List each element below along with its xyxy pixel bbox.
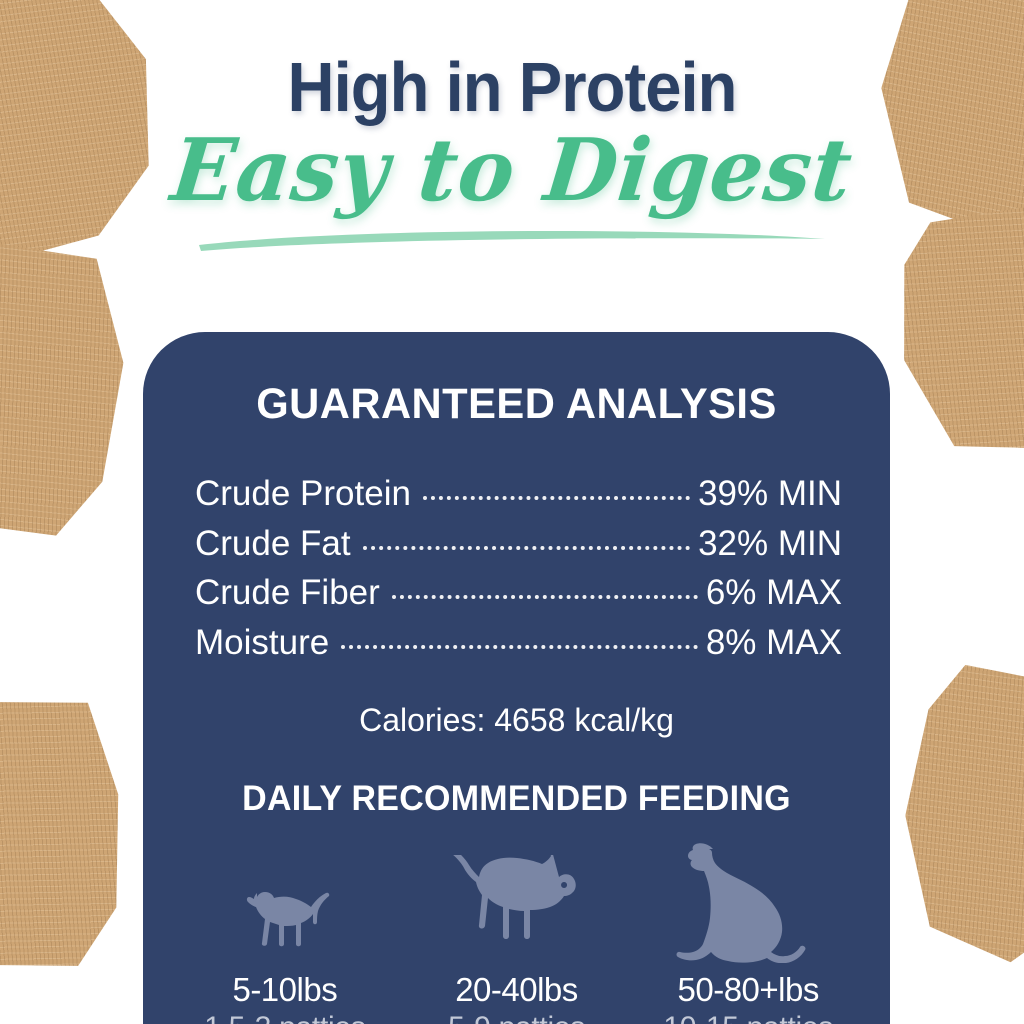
- calories-line: Calories: 4658 kcal/kg: [143, 702, 890, 739]
- analysis-label: Crude Fiber: [195, 568, 380, 618]
- analysis-value: 32% MIN: [698, 519, 842, 569]
- feeding-portion: 10-15 patties: [632, 1011, 864, 1024]
- analysis-row: Moisture 8% MAX: [195, 618, 842, 668]
- feeding-portion: 1.5-3 patties: [169, 1011, 401, 1024]
- small-dog-icon: [231, 875, 339, 963]
- headline-primary: High in Protein: [36, 0, 988, 122]
- large-dog-icon: [673, 835, 823, 963]
- headline-script: Easy to Digest: [11, 128, 1013, 214]
- analysis-row: Crude Fiber 6% MAX: [195, 568, 842, 618]
- guaranteed-analysis-panel: GUARANTEED ANALYSIS Crude Protein 39% MI…: [143, 332, 890, 1024]
- analysis-heading: GUARANTEED ANALYSIS: [154, 332, 879, 429]
- analysis-label: Crude Fat: [195, 519, 351, 569]
- feeding-portion: 5-9 patties: [401, 1011, 633, 1024]
- analysis-leader-dots: [341, 645, 698, 649]
- feeding-weight: 5-10lbs: [169, 971, 401, 1009]
- feeding-guide: 5-10lbs 1.5-3 patties 20-40lbs 5-9 patti…: [143, 835, 890, 1024]
- analysis-leader-dots: [392, 595, 698, 599]
- analysis-row: Crude Fat 32% MIN: [195, 519, 842, 569]
- medium-dog-icon: [451, 855, 583, 963]
- product-infographic: High in Protein Easy to Digest GUARANTEE…: [0, 0, 1024, 1024]
- patty-image-bottom-right: [891, 654, 1024, 973]
- analysis-value: 39% MIN: [698, 469, 842, 519]
- headline-script-wrap: Easy to Digest: [0, 128, 1024, 246]
- feeding-column-large: 50-80+lbs 10-15 patties: [632, 835, 864, 1024]
- analysis-value: 8% MAX: [706, 618, 842, 668]
- headline-block: High in Protein Easy to Digest: [0, 0, 1024, 246]
- analysis-row-list: Crude Protein 39% MIN Crude Fat 32% MIN …: [143, 469, 890, 668]
- analysis-row: Crude Protein 39% MIN: [195, 469, 842, 519]
- feeding-weight: 20-40lbs: [401, 971, 633, 1009]
- analysis-label: Moisture: [195, 618, 329, 668]
- analysis-leader-dots: [423, 496, 690, 500]
- feeding-column-small: 5-10lbs 1.5-3 patties: [169, 875, 401, 1024]
- analysis-leader-dots: [363, 546, 690, 550]
- feeding-heading: DAILY RECOMMENDED FEEDING: [154, 779, 879, 819]
- patty-image-bottom-left: [0, 687, 133, 979]
- underline-swoosh-icon: [197, 226, 827, 252]
- feeding-column-medium: 20-40lbs 5-9 patties: [401, 855, 633, 1024]
- analysis-label: Crude Protein: [195, 469, 411, 519]
- patty-image-top-left-lower: [0, 229, 140, 543]
- feeding-weight: 50-80+lbs: [632, 971, 864, 1009]
- analysis-value: 6% MAX: [706, 568, 842, 618]
